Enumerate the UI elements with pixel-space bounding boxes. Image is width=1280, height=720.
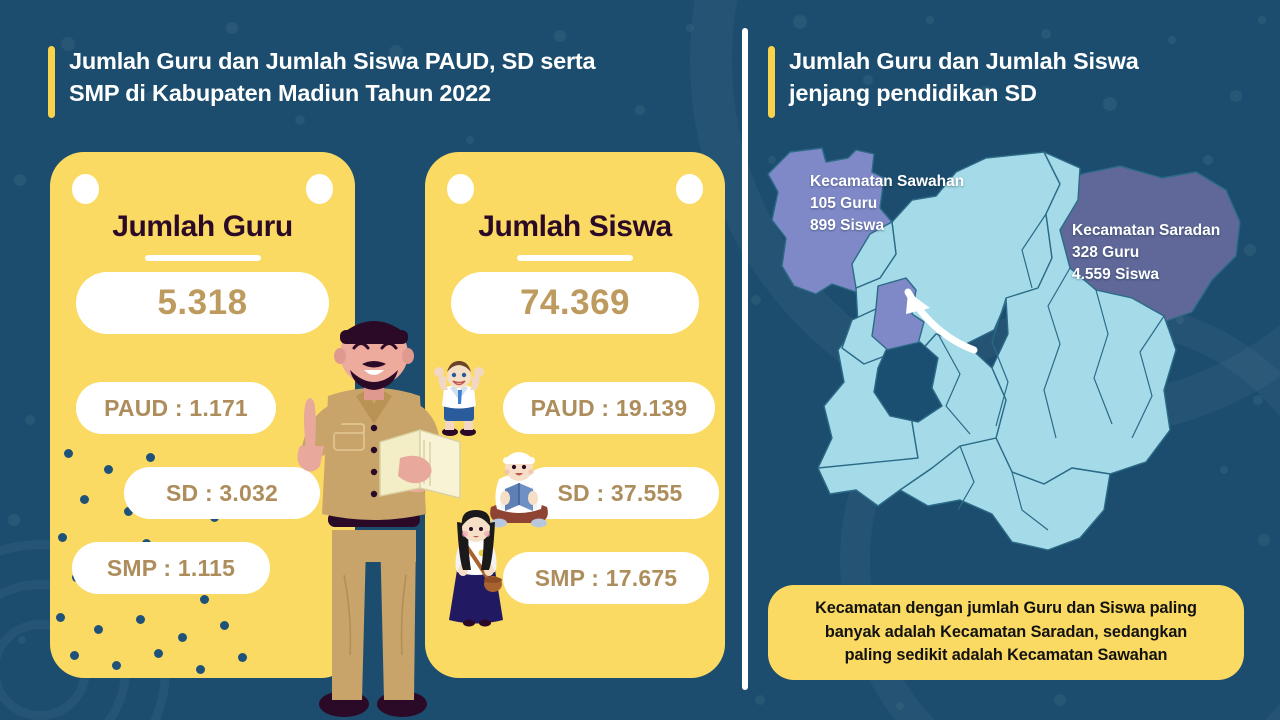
card-divider-rule xyxy=(517,255,633,261)
map-label-sawahan: Kecamatan Sawahan 105 Guru 899 Siswa xyxy=(810,171,964,237)
card-title-guru: Jumlah Guru xyxy=(50,210,355,244)
stat-pill-guru-smp-label: SMP : 1.115 xyxy=(107,555,235,582)
student-paud-illustration xyxy=(428,358,490,436)
stat-pill-guru-sd-label: SD : 3.032 xyxy=(166,480,278,507)
punch-hole-right-icon xyxy=(676,174,703,204)
stat-pill-siswa-smp-label: SMP : 17.675 xyxy=(535,565,678,592)
left-title-text: Jumlah Guru dan Jumlah Siswa PAUD, SD se… xyxy=(69,46,595,110)
card-title-siswa: Jumlah Siswa xyxy=(425,210,725,244)
right-title-text: Jumlah Guru dan Jumlah Siswa jenjang pen… xyxy=(789,46,1139,110)
stat-pill-siswa-paud-label: PAUD : 19.139 xyxy=(531,395,688,422)
map-caption-box: Kecamatan dengan jumlah Guru dan Siswa p… xyxy=(768,585,1244,680)
left-panel-title: Jumlah Guru dan Jumlah Siswa PAUD, SD se… xyxy=(48,46,708,118)
stat-pill-siswa-sd-label: SD : 37.555 xyxy=(558,480,683,507)
map-caption-text: Kecamatan dengan jumlah Guru dan Siswa p… xyxy=(815,597,1197,667)
student-smp-illustration xyxy=(443,508,509,628)
card-total-guru-value: 5.318 xyxy=(157,283,247,323)
card-divider-rule xyxy=(145,255,261,261)
punch-hole-left-icon xyxy=(447,174,474,204)
stat-pill-siswa-paud: PAUD : 19.139 xyxy=(503,382,715,434)
stat-pill-siswa-smp: SMP : 17.675 xyxy=(503,552,709,604)
stat-pill-guru-paud-label: PAUD : 1.171 xyxy=(104,395,248,422)
punch-hole-left-icon xyxy=(72,174,99,204)
infographic-canvas: Jumlah Guru dan Jumlah Siswa PAUD, SD se… xyxy=(0,0,1280,720)
title-accent-bar xyxy=(48,46,55,118)
card-total-siswa-value: 74.369 xyxy=(520,283,630,323)
stat-pill-guru-paud: PAUD : 1.171 xyxy=(76,382,276,434)
map-label-saradan: Kecamatan Saradan 328 Guru 4.559 Siswa xyxy=(1072,220,1220,286)
right-panel-title: Jumlah Guru dan Jumlah Siswa jenjang pen… xyxy=(768,46,1238,118)
title-accent-bar xyxy=(768,46,775,118)
card-total-siswa: 74.369 xyxy=(451,272,699,334)
panel-divider xyxy=(742,28,748,690)
stat-pill-guru-smp: SMP : 1.115 xyxy=(72,542,270,594)
punch-hole-right-icon xyxy=(306,174,333,204)
